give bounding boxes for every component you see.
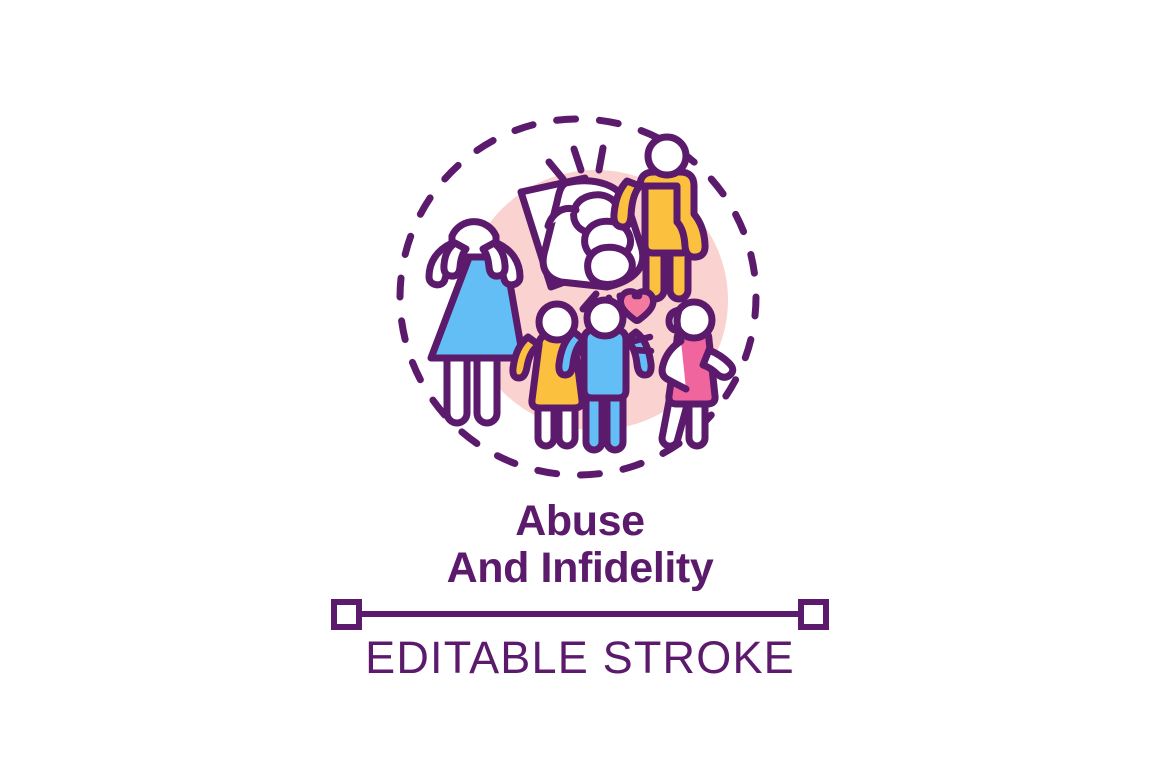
- concept-icon-canvas: Abuse And Infidelity EDITABLE STROKE: [0, 0, 1160, 772]
- divider-right-handle: [801, 602, 826, 627]
- divider-wrap: [0, 596, 1160, 637]
- divider-left-handle: [334, 602, 359, 627]
- editable-stroke-label: EDITABLE STROKE: [0, 632, 1160, 684]
- editable-stroke-divider: [330, 596, 830, 632]
